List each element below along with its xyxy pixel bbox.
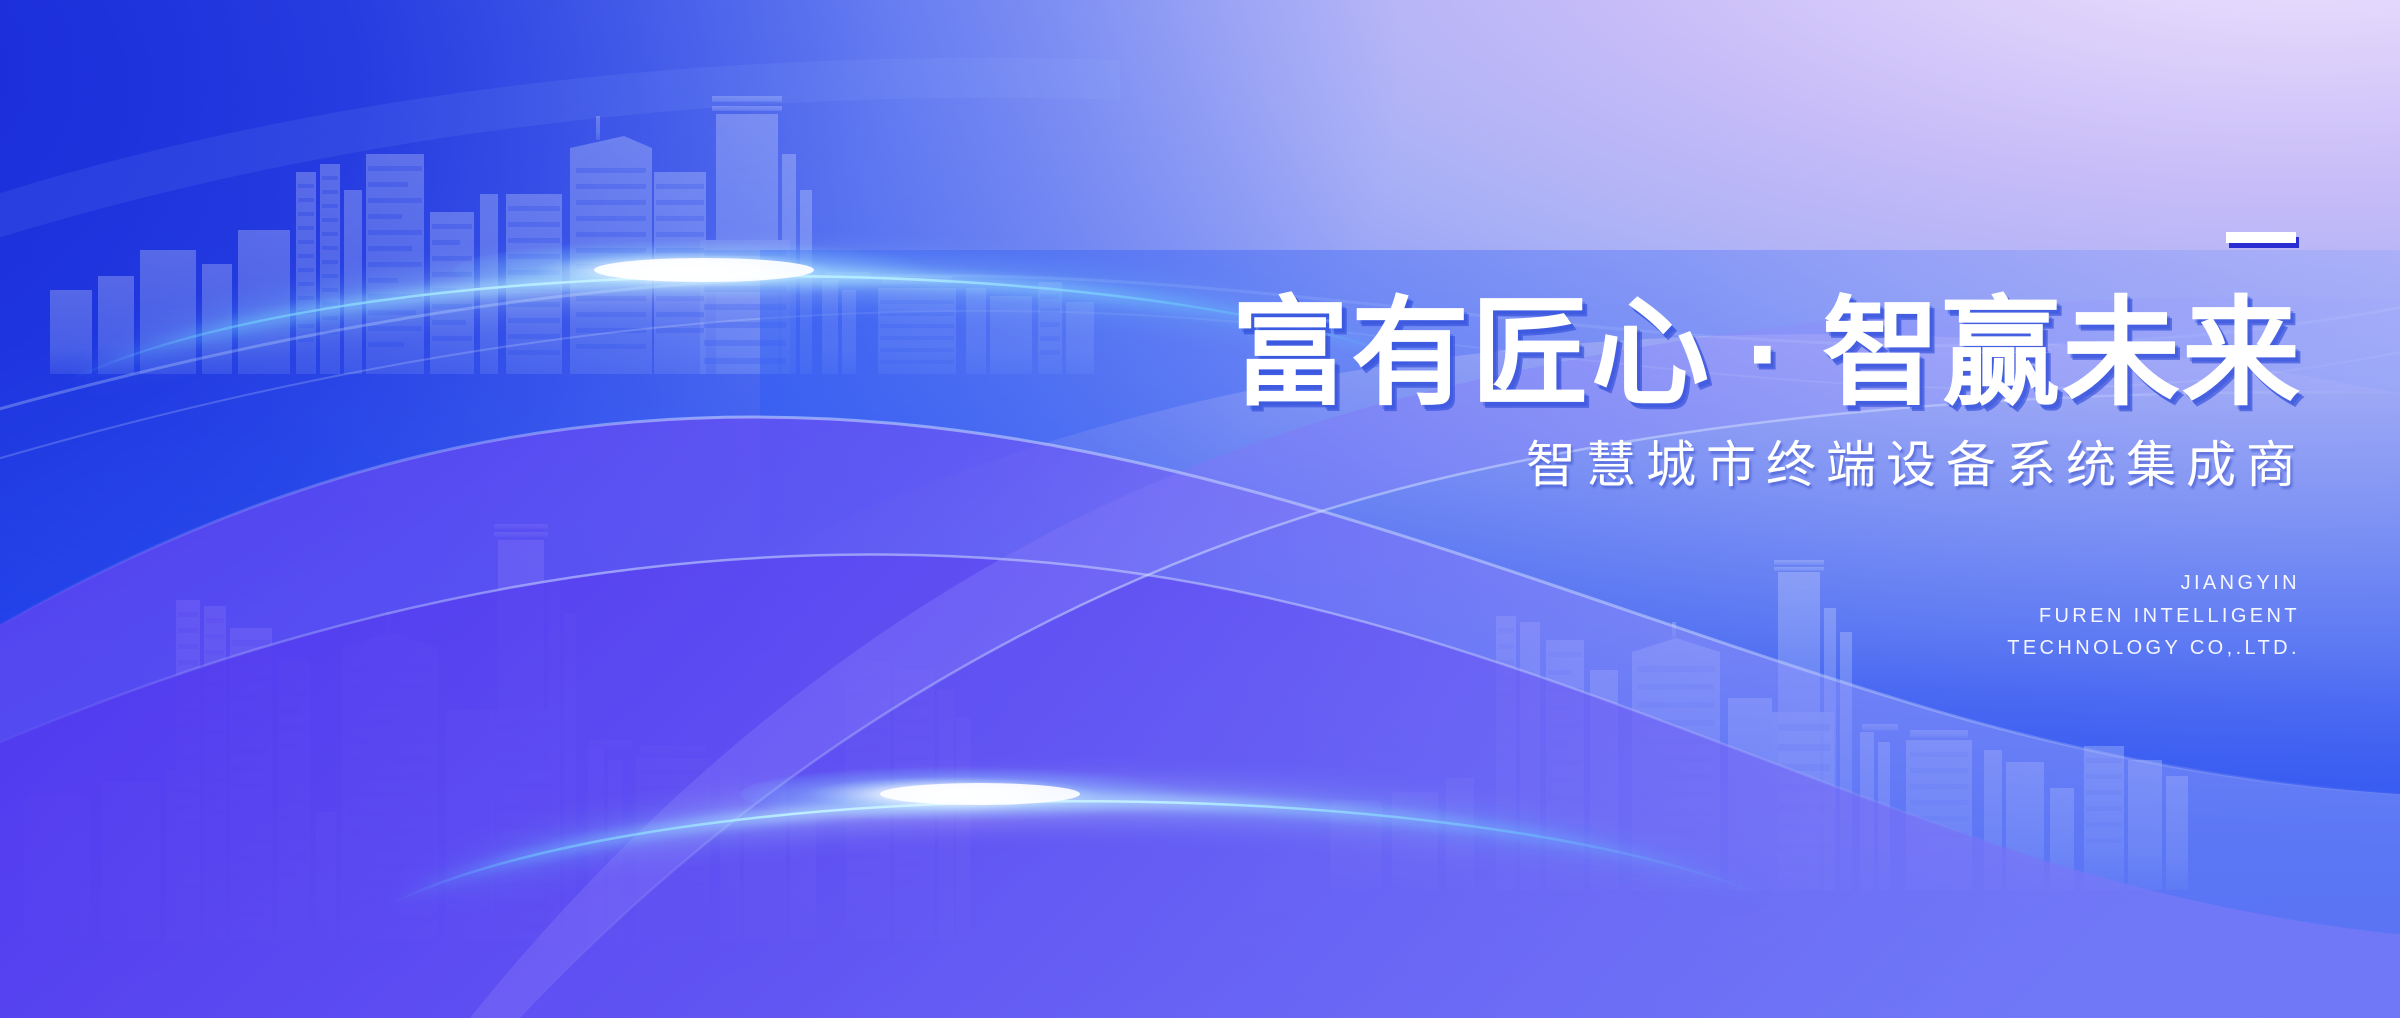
company-name: JIANGYIN FUREN INTELLIGENT TECHNOLOGY CO… [1050, 567, 2310, 664]
promo-banner: 富有匠心 · 智赢未来 智慧城市终端设备系统集成商 JIANGYIN FUREN… [0, 0, 2400, 1018]
company-name-line-1: JIANGYIN [1050, 567, 2300, 599]
page-subtitle: 智慧城市终端设备系统集成商 [1050, 438, 2310, 493]
accent-dash-icon [2226, 232, 2296, 243]
company-name-line-3: TECHNOLOGY CO,.LTD. [1050, 632, 2300, 664]
glow-arc-bottom-icon [380, 690, 1780, 920]
page-title: 富有匠心 · 智赢未来 [1050, 294, 2310, 414]
accent-dash-row [1050, 230, 2310, 248]
headline-group: 富有匠心 · 智赢未来 智慧城市终端设备系统集成商 JIANGYIN FUREN… [1050, 230, 2310, 665]
company-name-line-2: FUREN INTELLIGENT [1050, 600, 2300, 632]
